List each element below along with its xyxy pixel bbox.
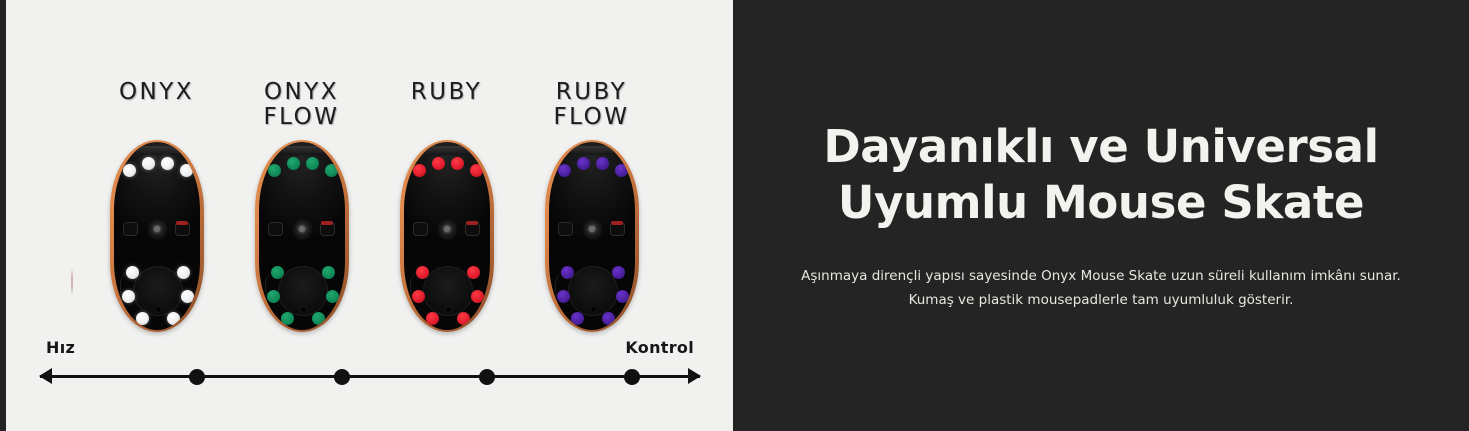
mouse-sensor	[292, 218, 313, 241]
skate-pad	[161, 157, 174, 170]
mouse-button-left	[268, 222, 283, 236]
axis-marker-ruby-flow	[624, 369, 640, 385]
axis-marker-row	[124, 338, 704, 398]
mouse-button-right	[465, 222, 480, 236]
mouse-rear-port	[155, 306, 162, 313]
mouse-button-right	[175, 222, 190, 236]
skate-pad	[557, 290, 570, 303]
skate-pad	[325, 164, 338, 177]
axis-marker-onyx	[189, 369, 205, 385]
mouse-cell-ruby-flow	[519, 140, 664, 335]
skate-pad	[561, 266, 574, 279]
mouse-rear-port	[300, 306, 307, 313]
skate-pad	[268, 164, 281, 177]
skate-pad	[271, 266, 284, 279]
mouse-cell-ruby	[374, 140, 519, 335]
skate-pad	[177, 266, 190, 279]
mouse-shell	[549, 142, 635, 330]
mouse-vent	[571, 146, 615, 155]
model-caption-ruby-flow: RUBY FLOW	[519, 80, 664, 140]
mouse-button-left	[123, 222, 138, 236]
mouse-vent	[426, 146, 470, 155]
mouse-illustration-row	[84, 140, 664, 335]
skate-pad	[412, 290, 425, 303]
left-edge-rail	[0, 0, 6, 431]
skate-pad	[612, 266, 625, 279]
mouse-rear-port	[590, 306, 597, 313]
margin-tick-mark	[71, 268, 73, 296]
model-caption-onyx: ONYX	[84, 80, 229, 140]
mouse-ruby-flow	[545, 140, 639, 332]
mouse-cell-onyx	[84, 140, 229, 335]
axis-marker-cell	[124, 338, 269, 398]
mouse-sensor	[582, 218, 603, 241]
model-caption-ruby: RUBY	[374, 80, 519, 140]
skate-pad	[615, 164, 628, 177]
skate-pad	[416, 266, 429, 279]
skate-pad	[287, 157, 300, 170]
skate-pad	[471, 290, 484, 303]
product-feature-banner: ONYX ONYX FLOW RUBY RUBY FLOW	[0, 0, 1469, 431]
skate-pad	[180, 164, 193, 177]
skate-pad	[326, 290, 339, 303]
skate-pad	[467, 266, 480, 279]
skate-pad	[312, 312, 325, 325]
marketing-copy-panel: Dayanıklı ve Universal Uyumlu Mouse Skat…	[733, 0, 1469, 431]
mouse-ruby	[400, 140, 494, 332]
skate-pad	[457, 312, 470, 325]
arrow-left-icon	[39, 368, 52, 384]
mouse-shell	[259, 142, 345, 330]
product-image-panel: ONYX ONYX FLOW RUBY RUBY FLOW	[0, 0, 733, 431]
skate-pad	[122, 290, 135, 303]
axis-marker-ruby	[479, 369, 495, 385]
axis-marker-cell	[414, 338, 559, 398]
axis-marker-onyx-flow	[334, 369, 350, 385]
subcopy-paragraph: Aşınmaya dirençli yapısı sayesinde Onyx …	[795, 265, 1407, 312]
skate-pad	[558, 164, 571, 177]
mouse-onyx-flow	[255, 140, 349, 332]
skate-pad	[596, 157, 609, 170]
model-caption-onyx-flow: ONYX FLOW	[229, 80, 374, 140]
mouse-shell	[114, 142, 200, 330]
skate-pad	[571, 312, 584, 325]
axis-marker-cell	[559, 338, 704, 398]
skate-pad	[413, 164, 426, 177]
skate-pad	[602, 312, 615, 325]
skate-pad	[616, 290, 629, 303]
skate-pad	[136, 312, 149, 325]
skate-pad	[181, 290, 194, 303]
skate-pad	[426, 312, 439, 325]
model-caption-row: ONYX ONYX FLOW RUBY RUBY FLOW	[84, 80, 664, 140]
skate-pad	[167, 312, 180, 325]
skate-pad	[322, 266, 335, 279]
mouse-onyx	[110, 140, 204, 332]
skate-pad	[126, 266, 139, 279]
mouse-rear-port	[445, 306, 452, 313]
mouse-button-right	[320, 222, 335, 236]
skate-pad	[306, 157, 319, 170]
skate-pad	[470, 164, 483, 177]
skate-pad	[577, 157, 590, 170]
mouse-vent	[136, 146, 180, 155]
skate-pad	[281, 312, 294, 325]
mouse-sensor	[147, 218, 168, 241]
mouse-button-left	[413, 222, 428, 236]
skate-pad	[451, 157, 464, 170]
mouse-button-left	[558, 222, 573, 236]
axis-marker-cell	[269, 338, 414, 398]
skate-pad	[432, 157, 445, 170]
speed-control-axis: Hız Kontrol	[40, 338, 700, 398]
mouse-vent	[281, 146, 325, 155]
mouse-button-right	[610, 222, 625, 236]
mouse-cell-onyx-flow	[229, 140, 374, 335]
skate-pad	[142, 157, 155, 170]
skate-pad	[123, 164, 136, 177]
skate-pad	[267, 290, 280, 303]
axis-label-speed: Hız	[46, 338, 75, 357]
headline: Dayanıklı ve Universal Uyumlu Mouse Skat…	[793, 119, 1409, 232]
mouse-shell	[404, 142, 490, 330]
mouse-sensor	[437, 218, 458, 241]
